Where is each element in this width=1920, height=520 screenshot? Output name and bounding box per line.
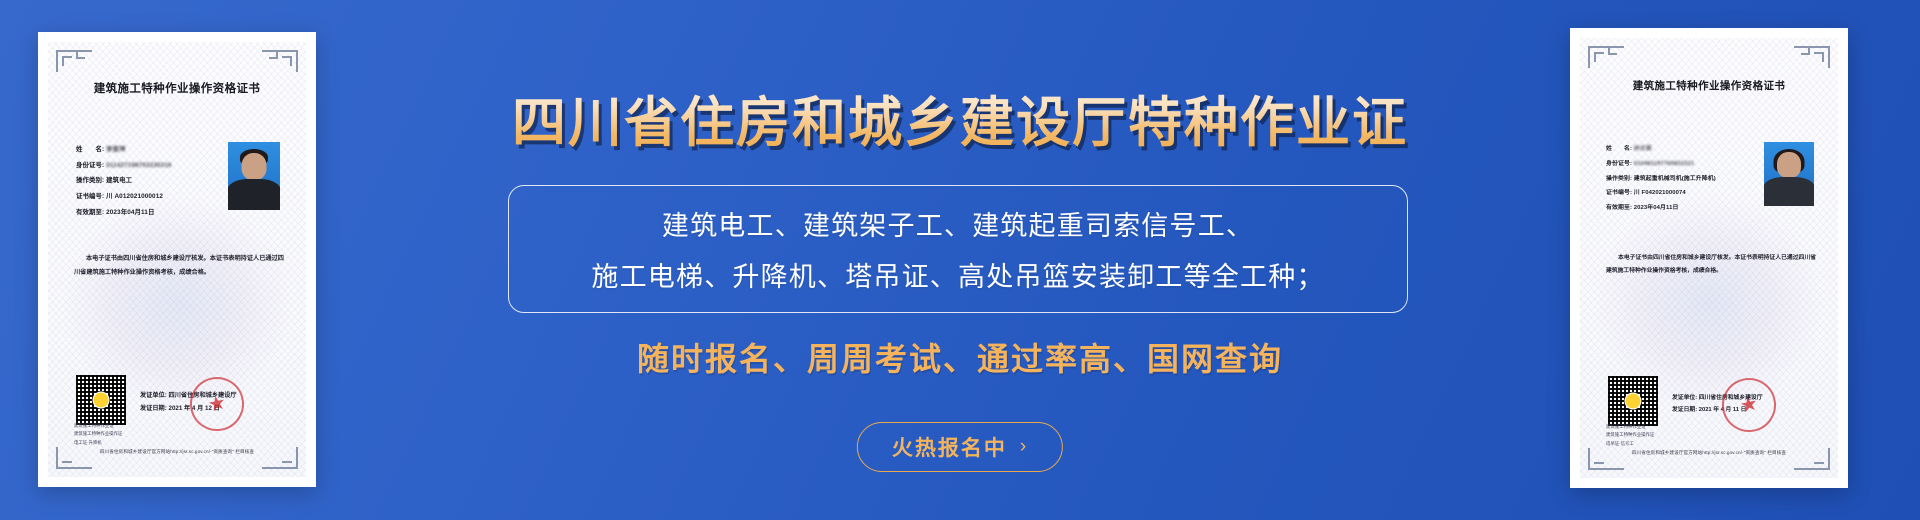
official-seal-icon: ★	[185, 372, 249, 436]
certificate-title: 建筑施工特种作业操作资格证书	[48, 80, 306, 96]
field-valid-until: 有效期至: 2023年04月11日	[1606, 201, 1756, 216]
field-certificate-number: 证书编号: 川 F042021000074	[1606, 186, 1756, 201]
ornament-corner-top-right	[262, 50, 298, 72]
info-line-2: 施工电梯、升降机、塔吊证、高处吊篮安装卸工等全工种；	[591, 255, 1324, 294]
certificate-card-left: 建筑施工特种作业操作资格证书 姓 名: 李俊坤 身份证号: 5114271987…	[38, 32, 316, 487]
ornament-corner-top-left	[1588, 46, 1624, 68]
certificate-paper: 建筑施工特种作业操作资格证书 姓 名: 孙兰英 身份证号: 5104811977…	[1580, 38, 1838, 478]
page-title: 四川省住房和城乡建设厅特种作业证	[360, 78, 1560, 157]
certificate-body-text: 本电子证书由四川省住房和城乡建设厅核发。本证书表明持证人已通过四川省建筑施工特种…	[74, 252, 284, 280]
field-valid-until: 有效期至: 2023年04月11日	[76, 205, 226, 221]
info-line-1: 建筑电工、建筑架子工、建筑起重司索信号工、	[662, 204, 1254, 243]
ornament-corner-top-right	[1794, 46, 1830, 68]
qr-code-icon	[76, 375, 126, 425]
field-name: 姓 名: 孙兰英	[1606, 142, 1756, 157]
certificate-photo	[1764, 142, 1814, 206]
signup-cta-button[interactable]: 火热报名中 ›	[857, 422, 1063, 472]
field-id-number: 身份证号: 511427198703230316	[76, 158, 226, 174]
certificate-footer: 四川省住房和城乡建设厅官方网站http://jsr.sc.gov.cn/-"资质…	[1580, 450, 1838, 456]
field-operation-type: 操作类别: 建筑电工	[76, 173, 226, 189]
certificate-fields: 姓 名: 李俊坤 身份证号: 511427198703230316 操作类别: …	[76, 142, 226, 220]
field-operation-type: 操作类别: 建筑起重机械司机(施工升降机)	[1606, 172, 1756, 187]
certificate-card-right: 建筑施工特种作业操作资格证书 姓 名: 孙兰英 身份证号: 5104811977…	[1570, 28, 1848, 488]
cta-label: 火热报名中	[892, 432, 1007, 462]
official-seal-icon: ★	[1717, 373, 1781, 437]
chevron-right-icon: ›	[1020, 436, 1028, 458]
field-name: 姓 名: 李俊坤	[76, 142, 226, 158]
promo-banner: 建筑施工特种作业操作资格证书 姓 名: 李俊坤 身份证号: 5114271987…	[0, 0, 1920, 520]
ornament-corner-top-left	[56, 50, 92, 72]
banner-content: 四川省住房和城乡建设厅特种作业证 建筑电工、建筑架子工、建筑起重司索信号工、 施…	[360, 0, 1560, 520]
scope-info-box: 建筑电工、建筑架子工、建筑起重司索信号工、 施工电梯、升降机、塔吊证、高处吊篮安…	[508, 185, 1408, 313]
certificate-body-text: 本电子证书由四川省住房和城乡建设厅核发。本证书表明持证人已通过四川省建筑施工特种…	[1606, 252, 1816, 278]
certificate-notes: 建筑施工特种作业证 建筑施工特种作业操作证 塔吊证·信号工	[1606, 423, 1654, 448]
certificate-paper: 建筑施工特种作业操作资格证书 姓 名: 李俊坤 身份证号: 5114271987…	[48, 42, 306, 477]
certificate-fields: 姓 名: 孙兰英 身份证号: 510481197760822221 操作类别: …	[1606, 142, 1756, 216]
benefits-line: 随时报名、周周考试、通过率高、国网查询	[360, 334, 1560, 380]
certificate-footer: 四川省住房和城乡建设厅官方网站http://jsr.sc.gov.cn/-"资质…	[48, 449, 306, 455]
field-id-number: 身份证号: 510481197760822221	[1606, 157, 1756, 172]
certificate-photo	[228, 142, 280, 210]
qr-code-icon	[1608, 376, 1658, 426]
field-certificate-number: 证书编号: 川 A012021000012	[76, 189, 226, 205]
certificate-notes: 建筑施工特种作业证 建筑施工特种作业操作证 电工证·升降机	[74, 422, 122, 447]
certificate-title: 建筑施工特种作业操作资格证书	[1580, 78, 1838, 93]
